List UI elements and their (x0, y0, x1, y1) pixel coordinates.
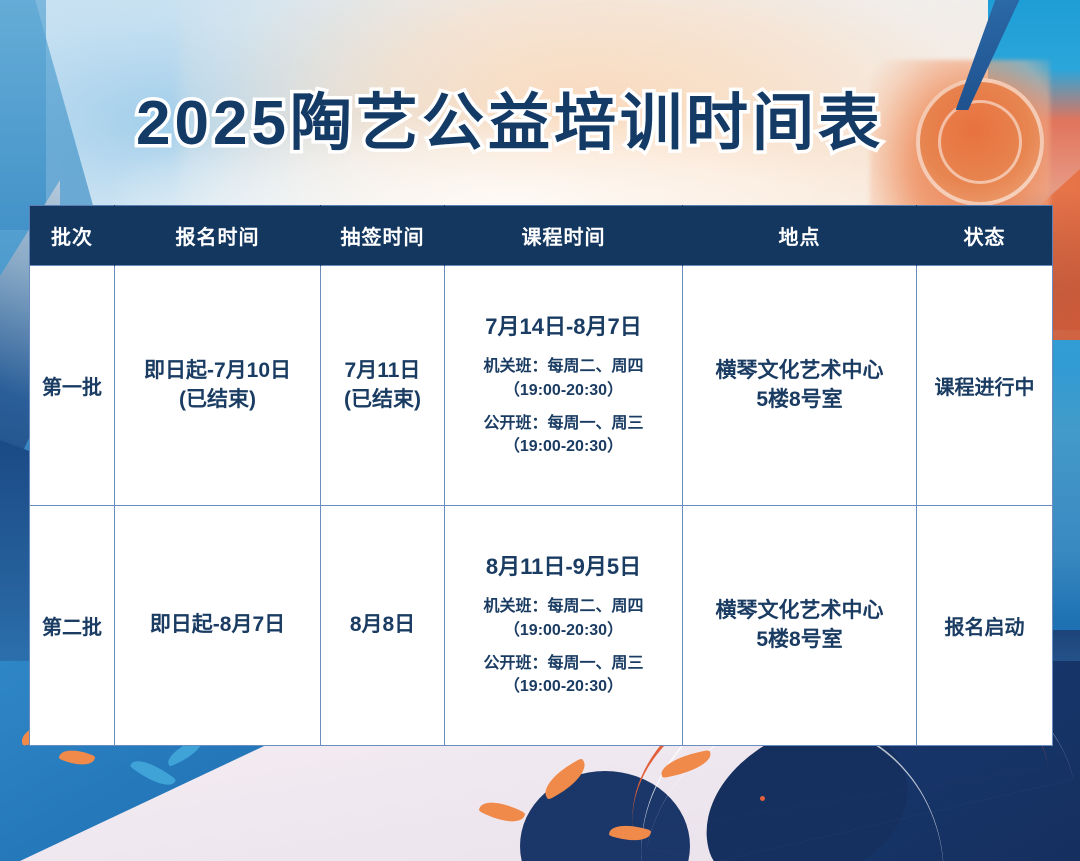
lottery-line-1: 7月11日 (325, 357, 440, 385)
column-header-course: 课程时间 (445, 206, 683, 266)
cell-batch: 第二批 (30, 506, 115, 746)
column-header-status: 状态 (917, 206, 1053, 266)
cell-lottery: 8月8日 (321, 506, 445, 746)
class-time: （19:00-20:30） (449, 675, 678, 698)
cell-place: 横琴文化艺术中心 5楼8号室 (683, 506, 917, 746)
class-time: （19:00-20:30） (449, 619, 678, 642)
class-time: （19:00-20:30） (449, 435, 678, 458)
poster-root: 2025陶艺公益培训时间表 批次 报名时间 抽签时间 课程时间 地点 状态 (0, 0, 1080, 861)
table-header: 批次 报名时间 抽签时间 课程时间 地点 状态 (30, 206, 1053, 266)
course-class-government: 机关班：每周二、周四 （19:00-20:30） (449, 355, 678, 401)
cell-lottery: 7月11日 (已结束) (321, 266, 445, 506)
lottery-line-1: 8月8日 (325, 611, 440, 639)
table-row: 第一批 即日起-7月10日 (已结束) 7月11日 (已结束) 7月14日-8月… (30, 266, 1053, 506)
course-date-range: 8月11日-9月5日 (449, 553, 678, 582)
page-title: 2025陶艺公益培训时间表 (0, 72, 1020, 162)
class-title: 公开班：每周一、周三 (449, 412, 678, 435)
cell-batch: 第一批 (30, 266, 115, 506)
lottery-line-2: (已结束) (325, 386, 440, 414)
table-row: 第二批 即日起-8月7日 8月8日 8月11日-9月5日 机关班：每周二、周四 … (30, 506, 1053, 746)
place-line-2: 5楼8号室 (687, 626, 912, 654)
cell-signup: 即日起-7月10日 (已结束) (115, 266, 321, 506)
course-class-public: 公开班：每周一、周三 （19:00-20:30） (449, 412, 678, 458)
place-line-1: 横琴文化艺术中心 (687, 597, 912, 625)
class-title: 公开班：每周一、周三 (449, 652, 678, 675)
cell-place: 横琴文化艺术中心 5楼8号室 (683, 266, 917, 506)
class-title: 机关班：每周二、周四 (449, 595, 678, 618)
class-title: 机关班：每周二、周四 (449, 355, 678, 378)
course-class-government: 机关班：每周二、周四 （19:00-20:30） (449, 595, 678, 641)
column-header-signup: 报名时间 (115, 206, 321, 266)
schedule-table-container: 批次 报名时间 抽签时间 课程时间 地点 状态 第一批 即日起-7月10日 (已… (29, 205, 1052, 746)
column-header-batch: 批次 (30, 206, 115, 266)
speck (760, 796, 765, 801)
signup-line-1: 即日起-7月10日 (119, 357, 316, 385)
cell-signup: 即日起-8月7日 (115, 506, 321, 746)
table-header-row: 批次 报名时间 抽签时间 课程时间 地点 状态 (30, 206, 1053, 266)
place-line-2: 5楼8号室 (687, 386, 912, 414)
signup-line-2: (已结束) (119, 386, 316, 414)
status-badge: 课程进行中 (917, 266, 1053, 506)
schedule-table: 批次 报名时间 抽签时间 课程时间 地点 状态 第一批 即日起-7月10日 (已… (29, 205, 1053, 746)
status-badge: 报名启动 (917, 506, 1053, 746)
class-time: （19:00-20:30） (449, 379, 678, 402)
course-date-range: 7月14日-8月7日 (449, 313, 678, 342)
course-class-public: 公开班：每周一、周三 （19:00-20:30） (449, 652, 678, 698)
cell-course: 7月14日-8月7日 机关班：每周二、周四 （19:00-20:30） 公开班：… (445, 266, 683, 506)
column-header-lottery: 抽签时间 (321, 206, 445, 266)
signup-line-1: 即日起-8月7日 (119, 611, 316, 639)
column-header-place: 地点 (683, 206, 917, 266)
place-line-1: 横琴文化艺术中心 (687, 357, 912, 385)
cell-course: 8月11日-9月5日 机关班：每周二、周四 （19:00-20:30） 公开班：… (445, 506, 683, 746)
table-body: 第一批 即日起-7月10日 (已结束) 7月11日 (已结束) 7月14日-8月… (30, 266, 1053, 746)
